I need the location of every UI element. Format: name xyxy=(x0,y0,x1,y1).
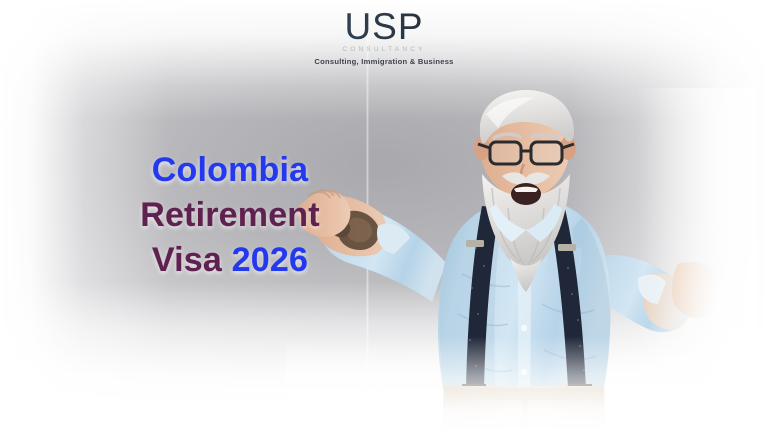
trousers xyxy=(442,386,606,432)
logo-tagline: Consulting, Immigration & Business xyxy=(0,57,768,66)
headline-line-1: Colombia xyxy=(18,148,442,193)
headline-line-3: Visa 2026 xyxy=(18,238,442,283)
headline-year: 2026 xyxy=(232,241,308,279)
headline-visa: Visa xyxy=(152,241,222,279)
headline: Colombia Retirement Visa 2026 xyxy=(18,148,442,283)
headline-line-2: Retirement xyxy=(18,193,442,238)
logo-wordmark: USP xyxy=(0,8,768,45)
usp-consultancy-logo: USP CONSULTANCY Consulting, Immigration … xyxy=(0,8,768,66)
logo-subtitle: CONSULTANCY xyxy=(0,46,768,53)
colombia-retirement-visa-banner: USP CONSULTANCY Consulting, Immigration … xyxy=(0,0,768,432)
